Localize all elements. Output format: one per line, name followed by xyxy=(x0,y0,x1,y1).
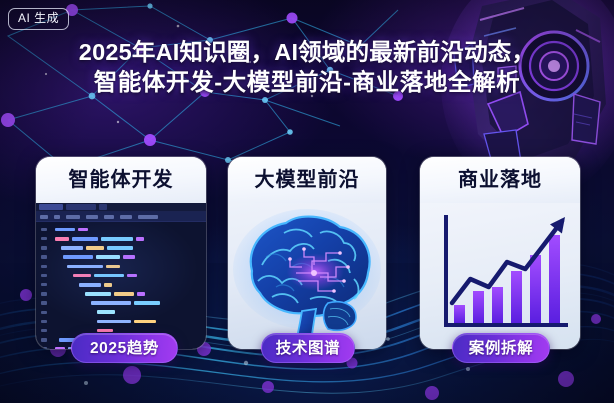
page-title: 2025年AI知识圈，AI领域的最新前沿动态， 智能体开发-大模型前沿-商业落地… xyxy=(0,37,614,97)
button-case-breakdown-label: 案例拆解 xyxy=(469,340,533,357)
button-2025-trend-label: 2025趋势 xyxy=(90,340,159,357)
button-tech-map-label: 技术图谱 xyxy=(276,340,340,357)
button-tech-map[interactable]: 技术图谱 xyxy=(261,333,355,363)
page-title-line-1: 2025年AI知识圈，AI领域的最新前沿动态， xyxy=(12,37,602,67)
page-title-line-2: 智能体开发-大模型前沿-商业落地全解析 xyxy=(12,67,602,97)
card-header: 商业落地 xyxy=(420,157,580,203)
card-commercial-landing[interactable]: 商业落地 xyxy=(420,157,580,349)
editor-glow-overlay xyxy=(36,203,206,349)
button-case-breakdown[interactable]: 案例拆解 xyxy=(452,333,550,363)
card-title-agent-development: 智能体开发 xyxy=(69,169,174,191)
glowing-brain-circuit-icon xyxy=(228,203,386,349)
ai-generated-badge: AI 生成 xyxy=(8,8,69,30)
chart-bar xyxy=(473,291,484,323)
chart-trend-line xyxy=(452,221,562,303)
ai-generated-badge-label: AI 生成 xyxy=(18,11,59,25)
poster-canvas: AI 生成 2025年AI知识圈，AI领域的最新前沿动态， 智能体开发-大模型前… xyxy=(0,0,614,403)
card-title-commercial-landing: 商业落地 xyxy=(458,169,542,191)
card-header: 智能体开发 xyxy=(36,157,206,203)
card-body xyxy=(420,203,580,349)
chart-bar xyxy=(511,271,522,323)
card-large-model-frontier[interactable]: 大模型前沿 xyxy=(228,157,386,349)
chart-bar xyxy=(549,235,560,323)
growth-bar-chart xyxy=(420,203,580,349)
card-header: 大模型前沿 xyxy=(228,157,386,203)
card-agent-development[interactable]: 智能体开发 xyxy=(36,157,206,349)
chart-bar xyxy=(492,287,503,323)
code-editor-screenshot xyxy=(36,203,206,349)
chart-bar xyxy=(454,305,465,323)
card-body xyxy=(36,203,206,349)
card-title-large-model-frontier: 大模型前沿 xyxy=(255,169,360,191)
card-row: 智能体开发 xyxy=(0,157,614,362)
button-2025-trend[interactable]: 2025趋势 xyxy=(71,333,178,363)
card-body xyxy=(228,203,386,349)
chart-bar xyxy=(530,255,541,323)
